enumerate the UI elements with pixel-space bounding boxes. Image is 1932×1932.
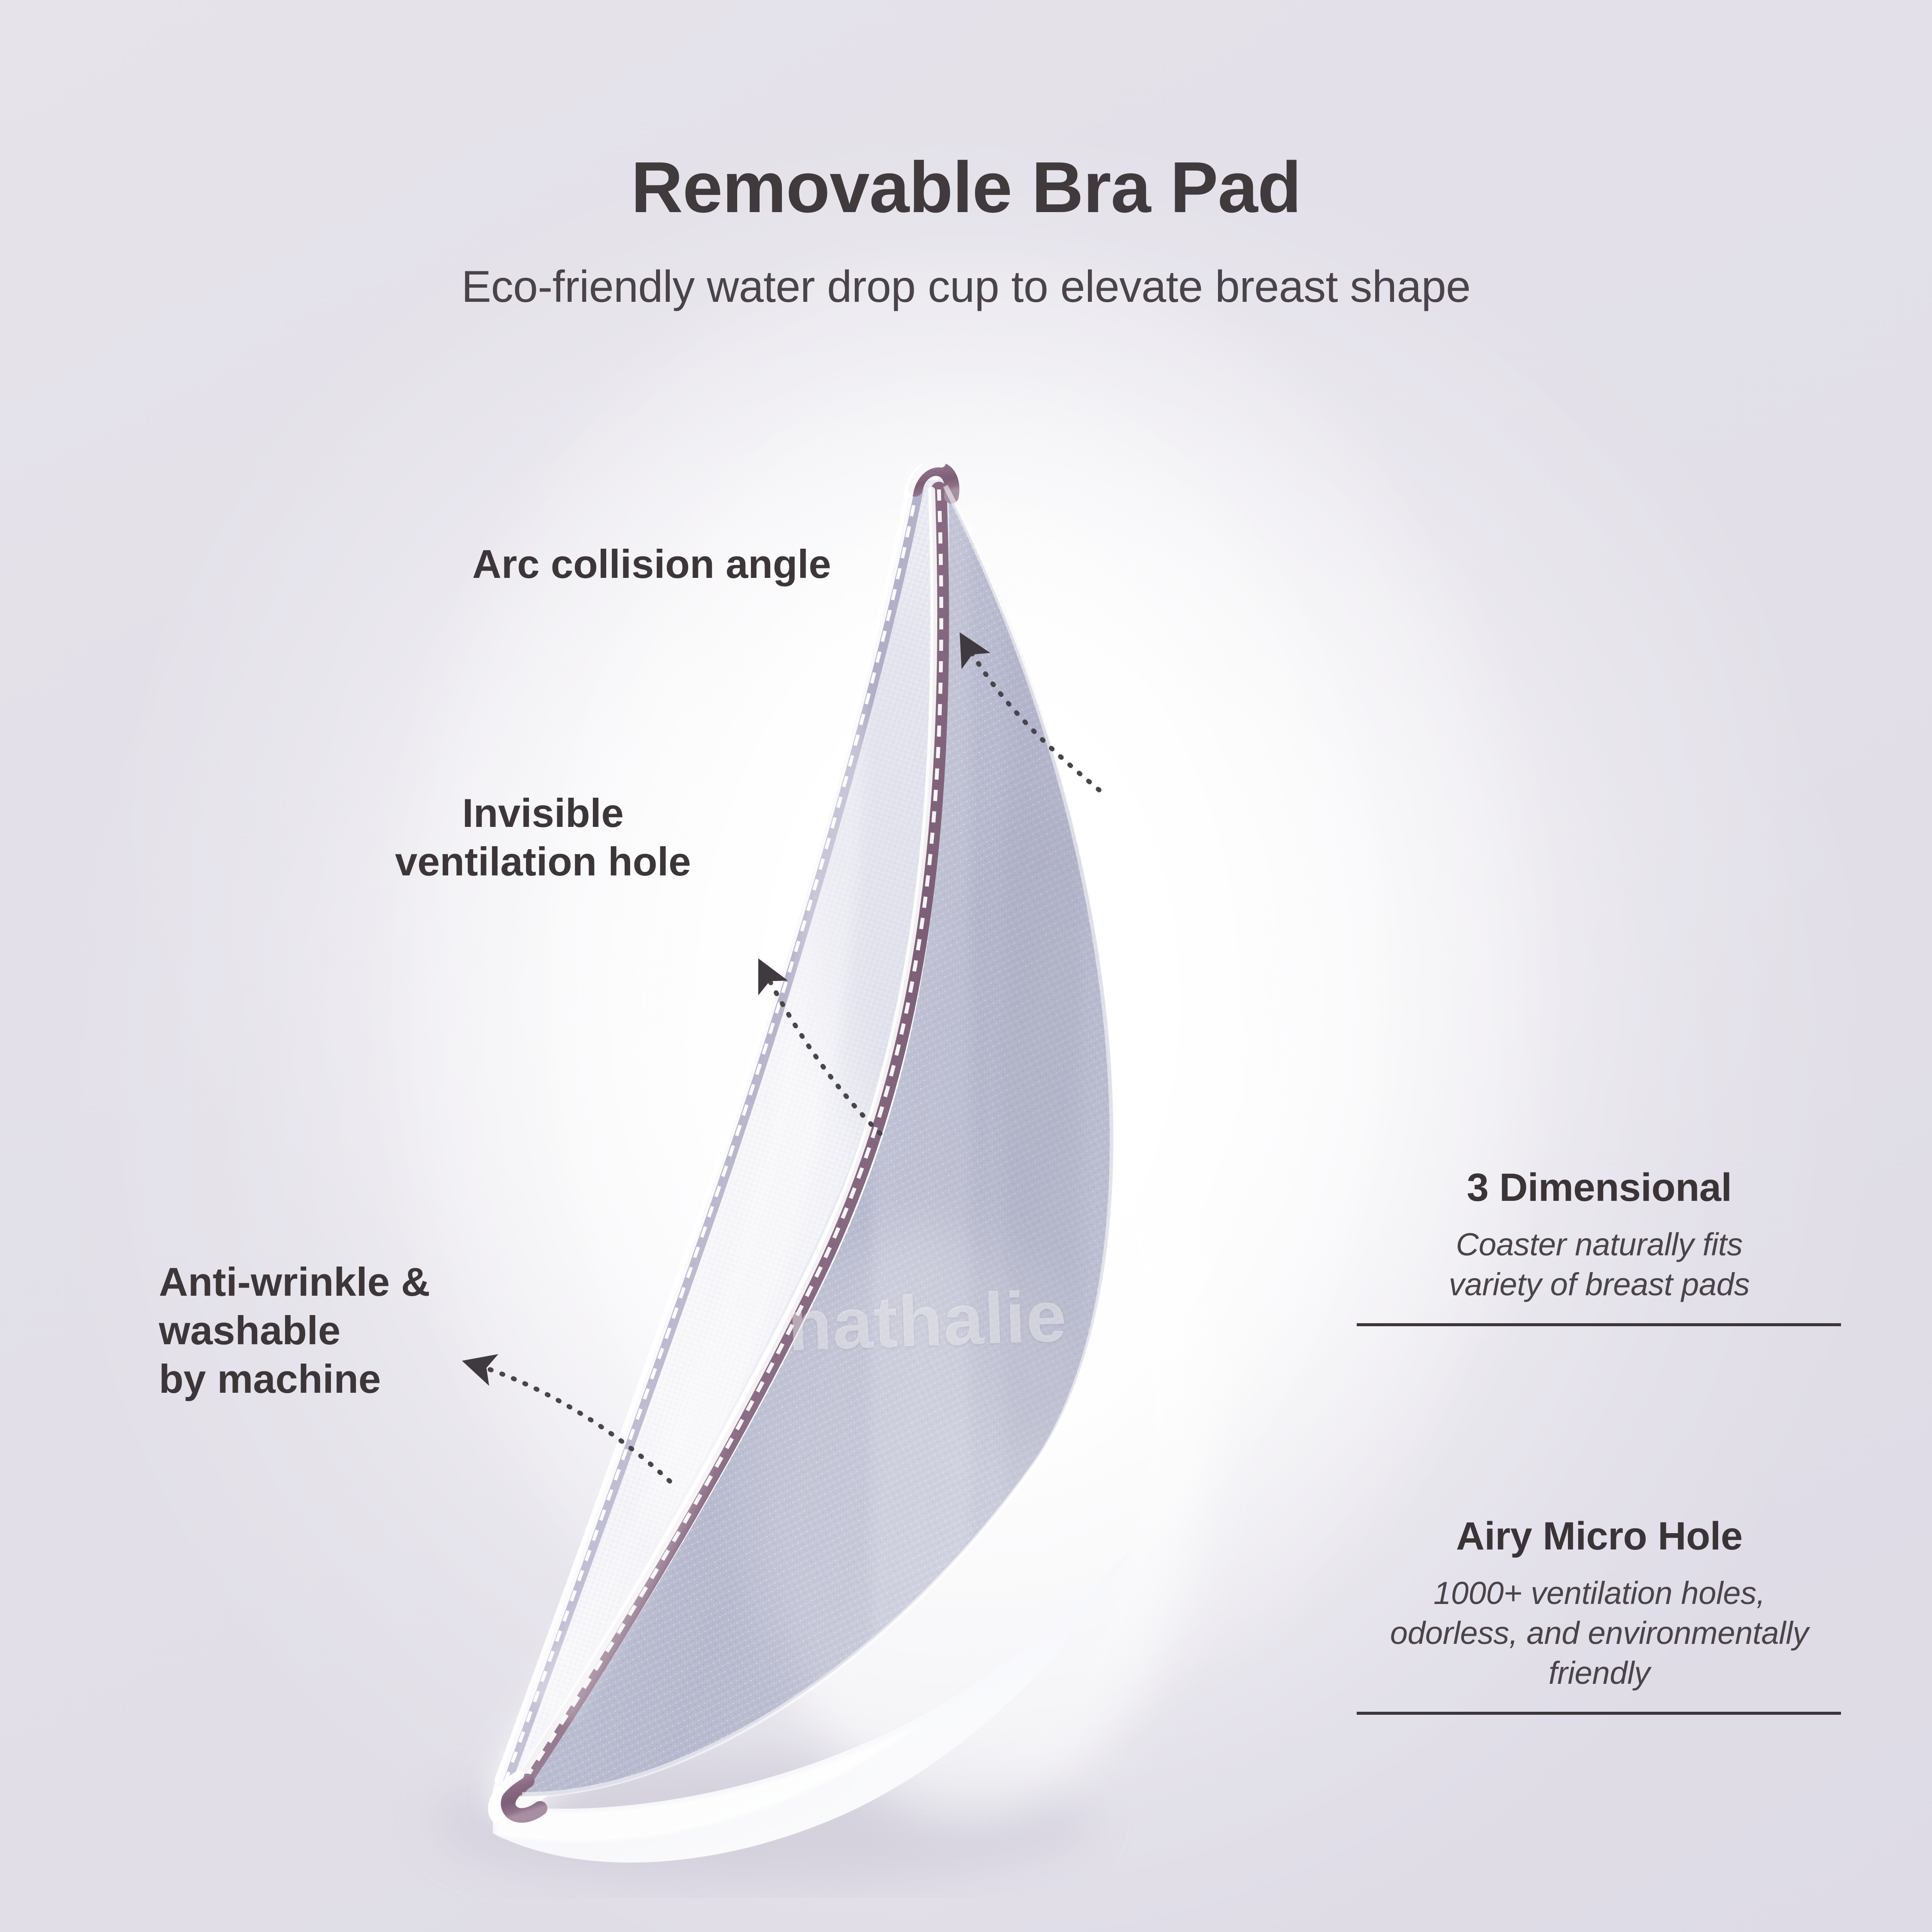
callout-label-invisible-ventilation-hole: Invisible ventilation hole	[395, 789, 691, 886]
infographic-canvas: nathalie Removable Bra Pad Eco-friendly …	[0, 0, 1932, 1932]
callout-label-anti-wrinkle-washable: Anti-wrinkle & washable by machine	[159, 1258, 430, 1403]
feature-description-airy-micro-hole: 1000+ ventilation holes, odorless, and e…	[1357, 1573, 1842, 1693]
page-subtitle: Eco-friendly water drop cup to elevate b…	[0, 264, 1932, 309]
feature-title-airy-micro-hole: Airy Micro Hole	[1357, 1516, 1842, 1558]
feature-title-three-dimensional: 3 Dimensional	[1357, 1167, 1842, 1209]
feature-divider-airy-micro-hole	[1357, 1712, 1841, 1715]
header: Removable Bra Pad Eco-friendly water dro…	[0, 151, 1932, 309]
product-image-bra-pad	[378, 464, 1365, 1898]
feature-block-three-dimensional: 3 Dimensional Coaster naturally fits var…	[1357, 1167, 1842, 1326]
callout-label-arc-collision-angle: Arc collision angle	[472, 540, 831, 589]
feature-block-airy-micro-hole: Airy Micro Hole 1000+ ventilation holes,…	[1357, 1516, 1842, 1715]
feature-divider-three-dimensional	[1357, 1323, 1841, 1326]
page-title: Removable Bra Pad	[0, 151, 1932, 223]
feature-description-three-dimensional: Coaster naturally fits variety of breast…	[1357, 1224, 1842, 1304]
